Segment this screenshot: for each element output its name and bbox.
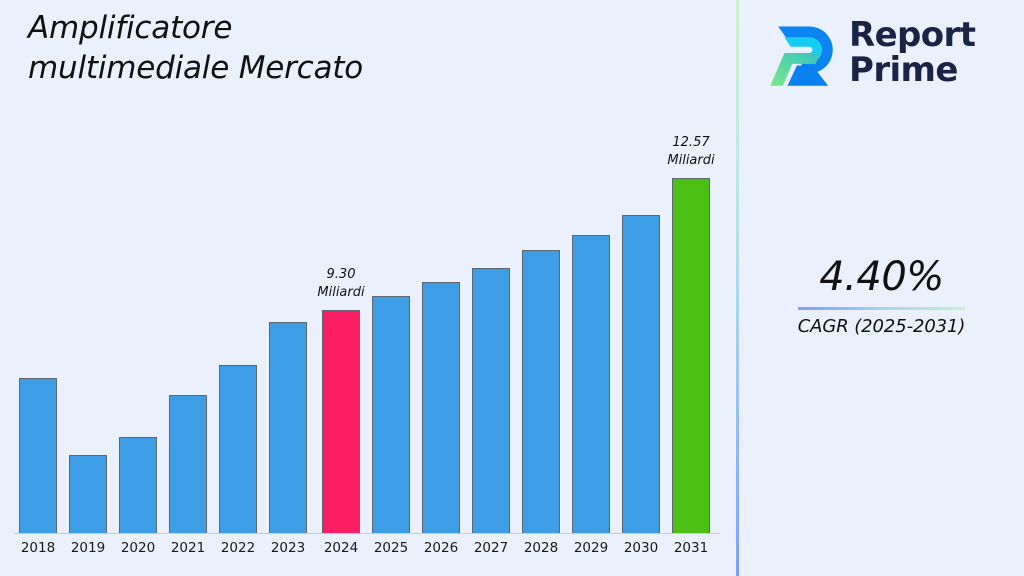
brand-panel: Report Prime 4.40% CAGR (2025-2031)	[739, 0, 1024, 576]
bar-2031	[672, 178, 710, 533]
bar-2025	[372, 296, 410, 533]
x-tick-2023: 2023	[258, 540, 318, 556]
cagr-divider	[798, 307, 965, 310]
bar-2019	[69, 455, 107, 533]
cagr-block: 4.40% CAGR (2025-2031)	[739, 255, 1024, 337]
bar-2028	[522, 250, 560, 533]
bar-2027	[472, 268, 510, 533]
cagr-value: 4.40%	[739, 255, 1024, 299]
chart-screenshot: Amplificatore multimediale Mercato 9.30 …	[0, 0, 1024, 576]
brand-wordmark: Report Prime	[849, 18, 975, 88]
bar-value-label-2031: 12.57 Miliardi	[641, 134, 741, 171]
bar-2029	[572, 235, 610, 533]
bar-2023	[269, 322, 307, 533]
report-prime-mark-icon	[761, 17, 839, 89]
plot-area: 9.30 Miliardi12.57 Miliardi 201820192020…	[0, 0, 737, 576]
bar-2020	[119, 437, 157, 533]
x-axis-line	[14, 533, 720, 534]
bar-2030	[622, 215, 660, 533]
bar-2022	[219, 365, 257, 533]
x-tick-2031: 2031	[661, 540, 721, 556]
chart-panel: Amplificatore multimediale Mercato 9.30 …	[0, 0, 737, 576]
cagr-caption: CAGR (2025-2031)	[739, 316, 1024, 337]
bar-2018	[19, 378, 57, 533]
bar-2024	[322, 310, 360, 533]
bar-2021	[169, 395, 207, 533]
brand-logo: Report Prime	[761, 12, 1009, 94]
bar-2026	[422, 282, 460, 533]
